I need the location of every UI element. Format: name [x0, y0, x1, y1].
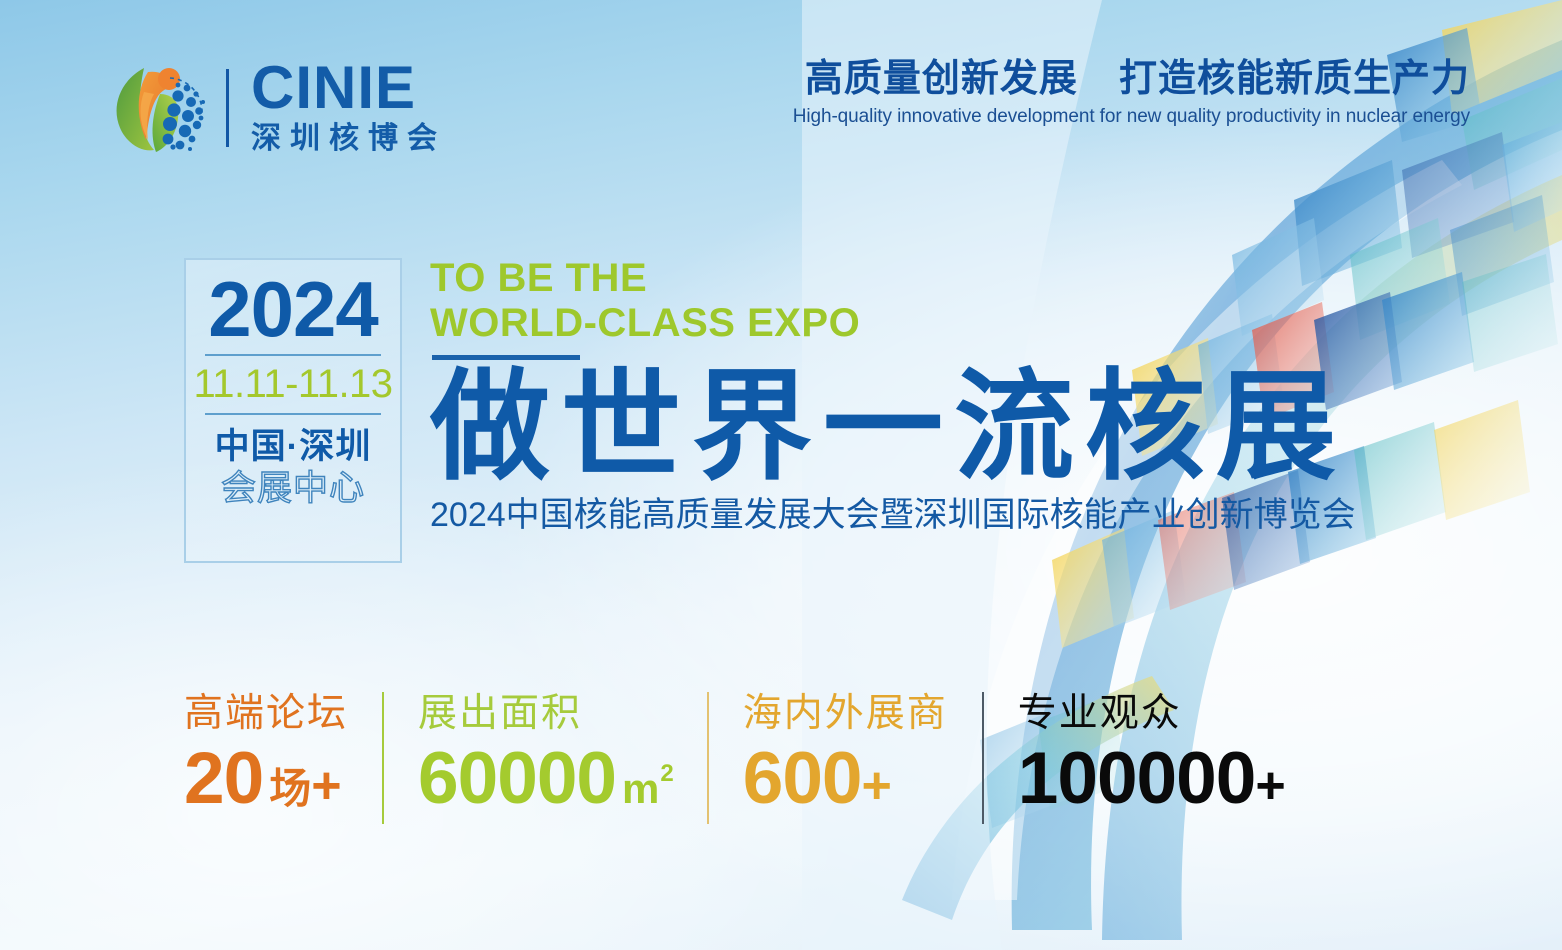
slogan-english: High-quality innovative development for … — [793, 106, 1470, 128]
stat-forums-value: 20 场 + — [184, 742, 348, 815]
main-title-block: TO BE THE WORLD-CLASS EXPO 做世界一流核展 2024中… — [430, 256, 1356, 536]
logo-wordmark: CINIE 深圳核博会 — [251, 59, 446, 157]
stat-exhibit-area-unit: m — [622, 768, 659, 810]
stat-forums-plus: + — [311, 760, 341, 812]
title-english-line2: WORLD-CLASS EXPO — [430, 301, 1356, 346]
datebox-rule-bottom — [205, 413, 381, 415]
stats-divider-gray — [982, 692, 984, 824]
title-subtitle: 2024中国核能高质量发展大会暨深圳国际核能产业创新博览会 — [430, 487, 1356, 536]
stat-forums-unit: 场 — [269, 768, 311, 810]
slogan-chinese: 高质量创新发展 打造核能新质生产力 — [793, 58, 1470, 101]
event-year: 2024 — [208, 270, 378, 350]
datebox-rule-top — [205, 354, 381, 356]
stat-exhibit-area-superscript: 2 — [660, 762, 673, 786]
stat-visitors: 专业观众 100000 + — [1018, 692, 1286, 815]
stat-visitors-value: 100000 + — [1018, 742, 1286, 815]
stat-visitors-number: 100000 — [1018, 742, 1256, 815]
logo-acronym: CINIE — [251, 59, 446, 117]
stats-divider-green — [382, 692, 384, 824]
title-english-line1: TO BE THE — [430, 256, 1356, 301]
stat-exhibitors-value: 600 + — [743, 742, 948, 815]
banner-header: CINIE 深圳核博会 高质量创新发展 打造核能新质生产力 High-quali… — [0, 0, 1562, 180]
stat-visitors-plus: + — [1255, 760, 1285, 812]
stat-exhibitors: 海内外展商 600 + — [743, 692, 948, 815]
event-city: 中国·深圳 — [215, 425, 372, 469]
slogan-chinese-part2: 打造核能新质生产力 — [1119, 58, 1470, 100]
banner-root: CINIE 深圳核博会 高质量创新发展 打造核能新质生产力 High-quali… — [0, 0, 1562, 950]
stat-forums-label: 高端论坛 — [184, 692, 348, 736]
stat-exhibitors-label: 海内外展商 — [743, 692, 948, 736]
cinie-globe-leaf-figure-logo-icon — [100, 52, 212, 164]
stat-exhibit-area-value: 60000 m 2 — [418, 742, 673, 815]
stat-exhibit-area-number: 60000 — [418, 742, 616, 815]
logo-divider — [226, 69, 229, 147]
stats-row: 高端论坛 20 场 + 展出面积 60000 m 2 海内外展商 600 — [184, 692, 1286, 824]
stat-exhibitors-plus: + — [862, 760, 892, 812]
date-location-box: 2024 11.11-11.13 中国·深圳 会展中心 — [184, 258, 402, 563]
header-slogan: 高质量创新发展 打造核能新质生产力 High-quality innovativ… — [793, 58, 1470, 128]
stat-forums: 高端论坛 20 场 + — [184, 692, 348, 815]
stat-exhibit-area: 展出面积 60000 m 2 — [418, 692, 673, 815]
stat-forums-number: 20 — [184, 742, 263, 815]
stats-divider-gold — [707, 692, 709, 824]
event-venue: 会展中心 — [221, 468, 365, 510]
event-date-range: 11.11-11.13 — [193, 358, 392, 410]
stat-visitors-label: 专业观众 — [1018, 692, 1286, 736]
stat-exhibit-area-label: 展出面积 — [418, 692, 673, 736]
slogan-chinese-part1: 高质量创新发展 — [805, 58, 1078, 100]
title-chinese: 做世界一流核展 — [430, 364, 1356, 491]
logo-lockup[interactable]: CINIE 深圳核博会 — [100, 52, 446, 164]
logo-chinese-name: 深圳核博会 — [251, 120, 446, 158]
title-underline-rule — [432, 355, 580, 360]
stat-exhibitors-number: 600 — [743, 742, 862, 815]
